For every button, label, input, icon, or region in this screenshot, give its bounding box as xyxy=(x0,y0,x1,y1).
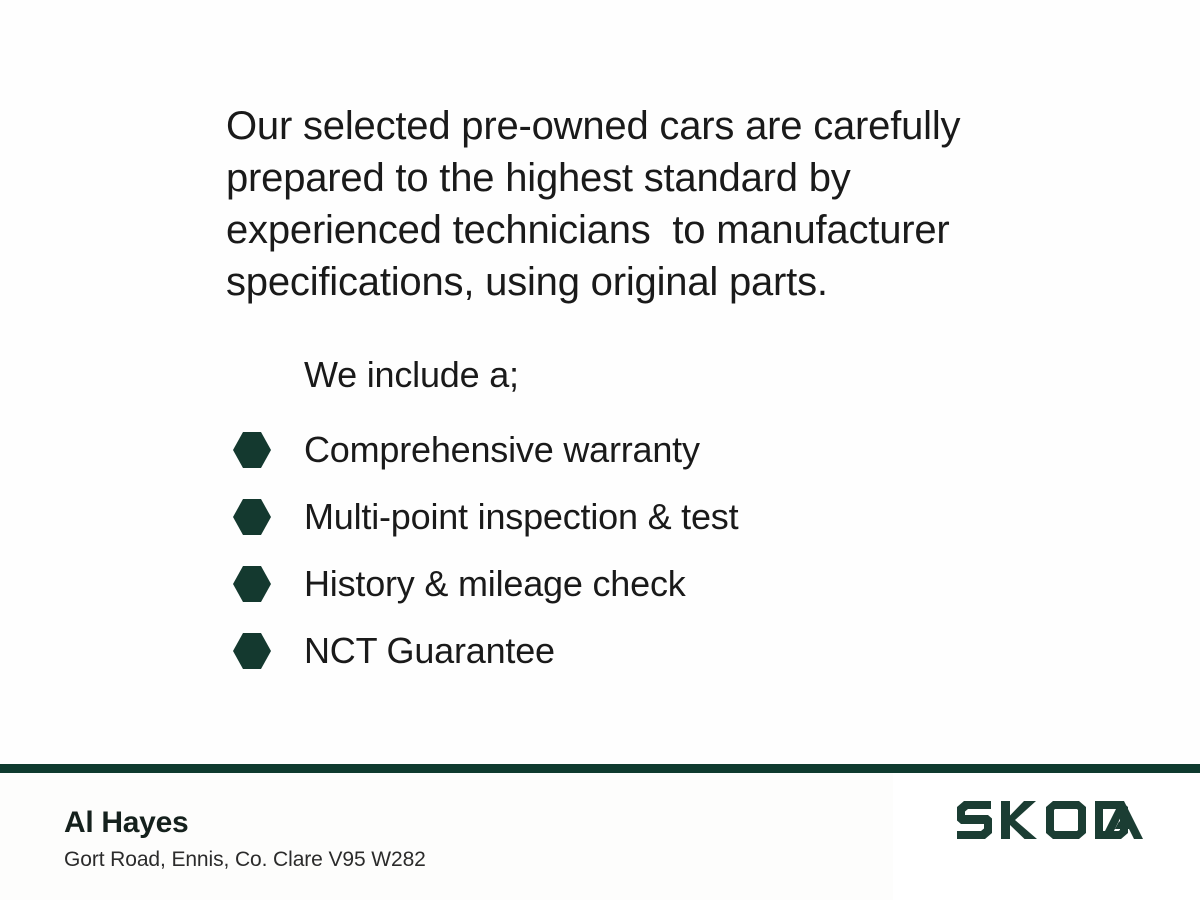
hexagon-bullet-icon xyxy=(232,565,272,603)
benefit-item-nct-guarantee: NCT Guarantee xyxy=(232,617,992,684)
benefit-label: NCT Guarantee xyxy=(304,631,555,671)
headline-line-2: prepared to the highest standard by xyxy=(226,152,1016,204)
benefit-label: Comprehensive warranty xyxy=(304,430,700,470)
benefits-lead-in: We include a; xyxy=(304,352,519,398)
headline-paragraph: Our selected pre-owned cars are carefull… xyxy=(226,100,1016,308)
dealer-name: Al Hayes xyxy=(64,806,188,840)
headline-line-1: Our selected pre-owned cars are carefull… xyxy=(226,100,1016,152)
hexagon-bullet-icon xyxy=(232,632,272,670)
benefit-label: Multi-point inspection & test xyxy=(304,497,738,537)
hexagon-bullet-icon xyxy=(232,498,272,536)
brand-divider-bar xyxy=(0,764,1200,773)
benefit-item-history-mileage-check: History & mileage check xyxy=(232,550,992,617)
headline-line-4: specifications, using original parts. xyxy=(226,256,1016,308)
hexagon-bullet-icon xyxy=(232,431,272,469)
skoda-wordmark-logo xyxy=(955,800,1145,846)
benefit-item-multi-point-inspection: Multi-point inspection & test xyxy=(232,483,992,550)
benefit-item-comprehensive-warranty: Comprehensive warranty xyxy=(232,416,992,483)
promo-slide: Our selected pre-owned cars are carefull… xyxy=(0,0,1200,900)
headline-line-3: experienced technicians to manufacturer xyxy=(226,204,1016,256)
dealer-address: Gort Road, Ennis, Co. Clare V95 W282 xyxy=(64,848,426,872)
benefits-list: Comprehensive warranty Multi-point inspe… xyxy=(232,416,992,684)
benefit-label: History & mileage check xyxy=(304,564,686,604)
